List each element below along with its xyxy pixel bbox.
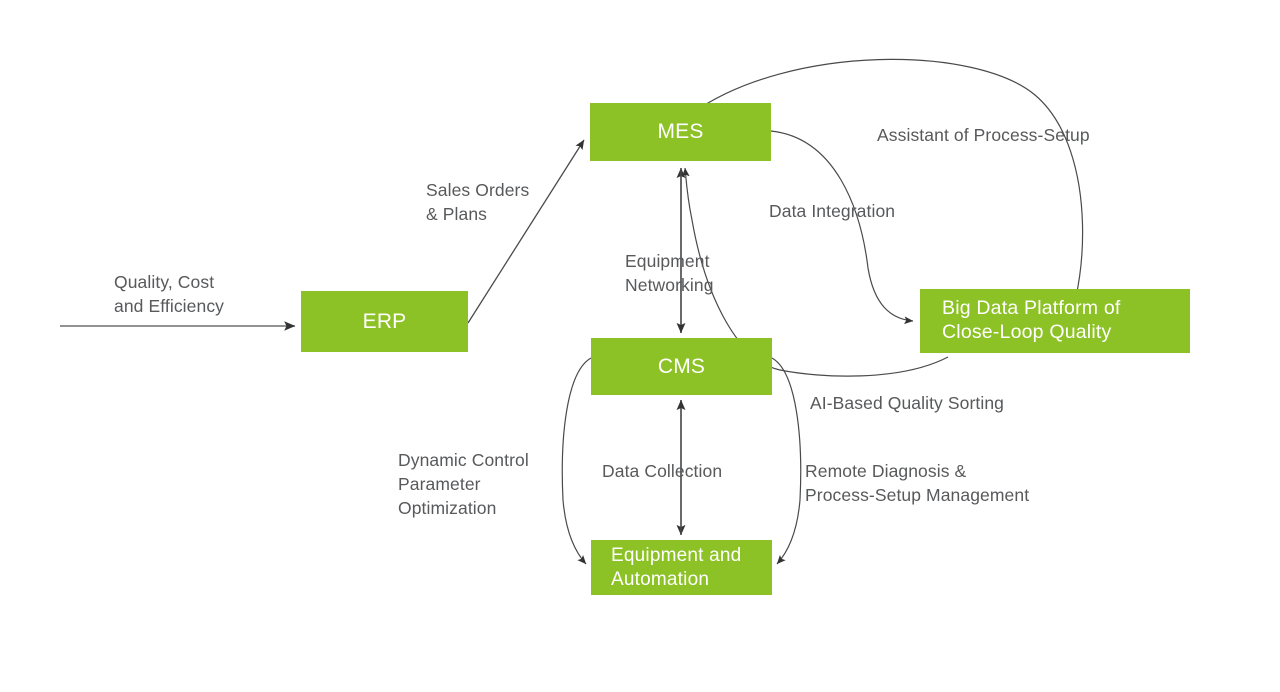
label-data-integration: Data Integration [769,199,895,223]
diagram-canvas: ERP MES CMS Equipment and Automation Big… [0,0,1280,692]
edge-cms-to-equipment-remote-diagnosis [772,358,801,564]
node-big-data-platform-label: Big Data Platform of Close-Loop Quality [942,297,1121,345]
node-big-data-platform[interactable]: Big Data Platform of Close-Loop Quality [920,289,1190,353]
label-sales-orders-and-plans: Sales Orders & Plans [426,178,529,226]
label-ai-based-quality-sorting: AI-Based Quality Sorting [810,391,1004,415]
label-remote-diagnosis-process-setup-management: Remote Diagnosis & Process-Setup Managem… [805,459,1029,507]
label-quality-cost-and-efficiency: Quality, Cost and Efficiency [114,270,224,318]
edge-erp-to-mes [468,140,584,323]
node-mes-label: MES [657,119,703,145]
label-dynamic-control-parameter-optimization: Dynamic Control Parameter Optimization [398,448,529,520]
edge-cms-to-equipment-dynamic-control [562,358,591,564]
node-mes[interactable]: MES [590,103,771,161]
node-equipment-and-automation-label: Equipment and Automation [611,544,741,590]
label-data-collection: Data Collection [602,459,722,483]
node-equipment-and-automation[interactable]: Equipment and Automation [591,540,772,595]
node-erp-label: ERP [363,309,407,335]
label-equipment-networking: Equipment Networking [625,249,714,297]
node-cms[interactable]: CMS [591,338,772,395]
edge-mes-to-bigdata-data-integration [771,131,913,321]
node-cms-label: CMS [658,354,705,380]
label-assistant-of-process-setup: Assistant of Process-Setup [877,123,1090,147]
node-erp[interactable]: ERP [301,291,468,352]
